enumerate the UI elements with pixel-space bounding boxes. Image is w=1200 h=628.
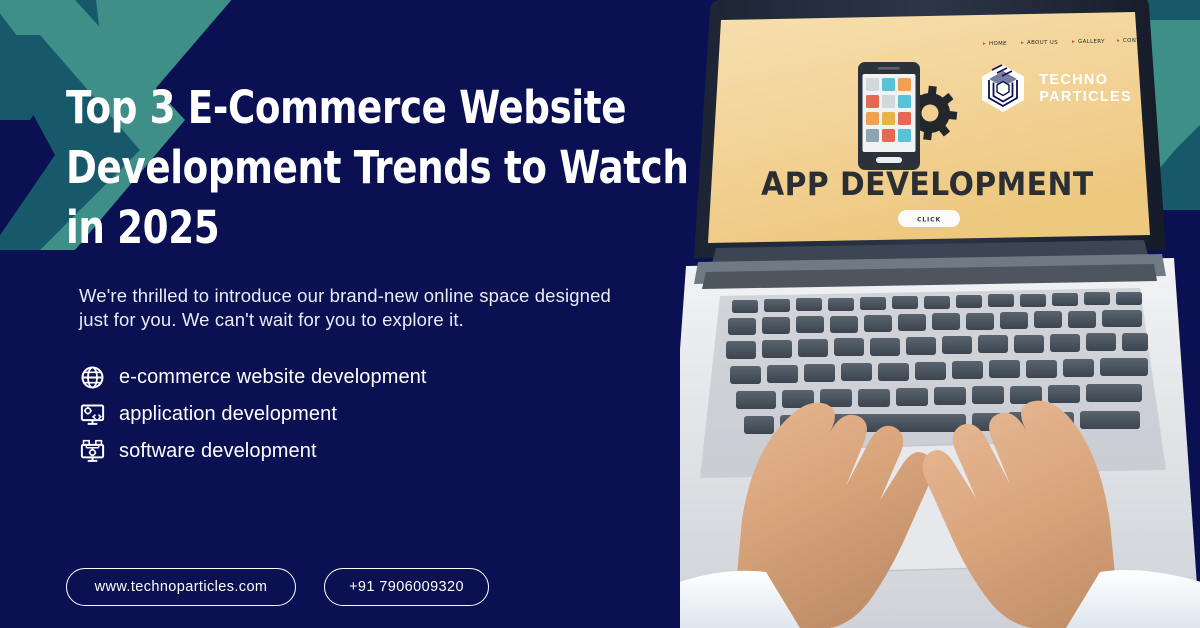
svg-text:▸: ▸ — [1072, 39, 1075, 45]
monitor-code-gear-icon — [79, 401, 105, 427]
brand-logo[interactable]: TECHNO PARTICLES — [978, 62, 1132, 116]
service-list: e-commerce website development — [79, 359, 766, 470]
list-item: software development — [79, 433, 766, 470]
phone-pill[interactable]: +91 7906009320 — [324, 568, 489, 606]
logo-wordmark: TECHNO PARTICLES — [1039, 72, 1132, 107]
footer-contact: www.technoparticles.com +91 7906009320 — [66, 568, 489, 606]
promo-banner: ▸HOME ▸ABOUT US ▸GALLERY ▸CONTACT — [0, 0, 1200, 628]
list-item-label: application development — [119, 403, 337, 426]
svg-text:HOME: HOME — [989, 41, 1007, 47]
website-pill[interactable]: www.technoparticles.com — [66, 568, 296, 606]
svg-text:ABOUT US: ABOUT US — [1027, 40, 1058, 46]
list-item-label: e-commerce website development — [119, 366, 427, 389]
globe-icon — [79, 364, 105, 390]
content-column: Top 3 E-Commerce Website Development Tre… — [66, 78, 766, 470]
monitor-network-gear-icon — [79, 438, 105, 464]
svg-text:▸: ▸ — [1117, 38, 1120, 44]
list-item-label: software development — [119, 440, 317, 463]
svg-text:APP DEVELOPMENT: APP DEVELOPMENT — [761, 166, 1093, 203]
isometric-cube-particle-icon — [978, 62, 1028, 116]
svg-text:▸: ▸ — [1021, 40, 1024, 46]
list-item: e-commerce website development — [79, 359, 766, 396]
page-title: Top 3 E-Commerce Website Development Tre… — [66, 78, 710, 258]
svg-text:▸: ▸ — [983, 41, 986, 47]
list-item: application development — [79, 396, 766, 433]
subtitle-paragraph: We're thrilled to introduce our brand-ne… — [79, 284, 619, 333]
svg-text:CLICK: CLICK — [917, 217, 941, 224]
svg-text:GALLERY: GALLERY — [1078, 39, 1105, 45]
